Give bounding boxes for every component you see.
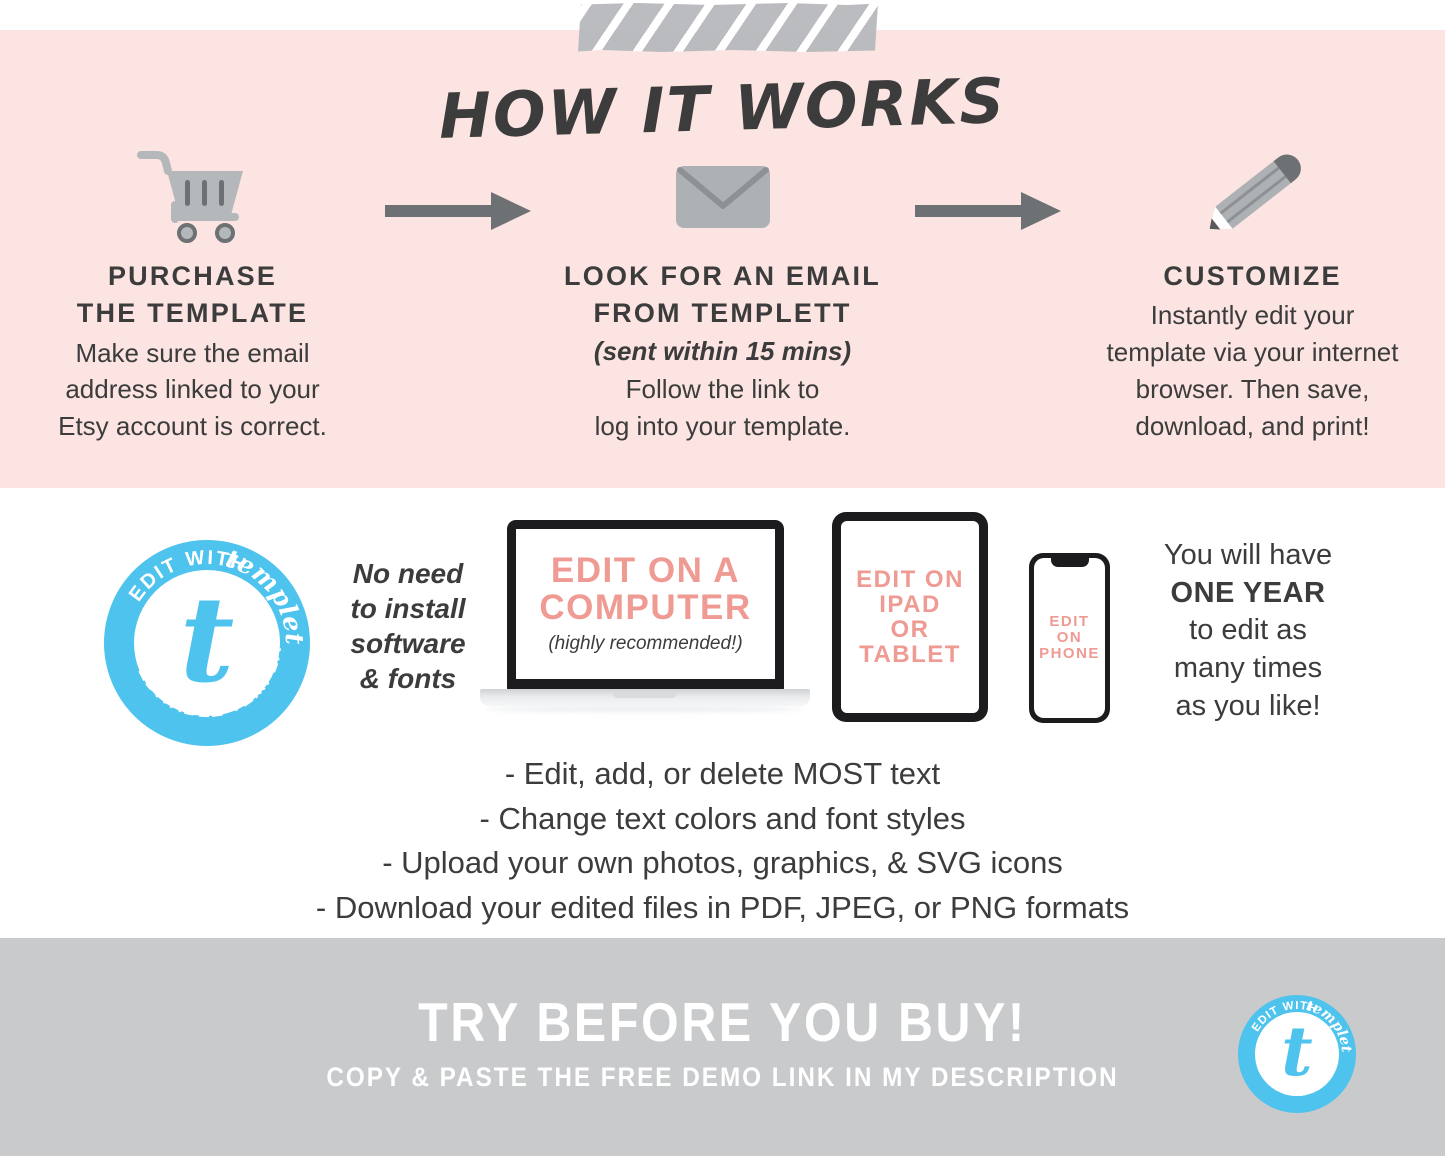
phone-screen: EDIT ON PHONE — [1034, 558, 1105, 718]
pencil-icon — [1063, 140, 1443, 250]
step-email-heading: LOOK FOR AN EMAIL FROM TEMPLETT — [533, 258, 913, 333]
laptop-screen: EDIT ON A COMPUTER (highly recommended!) — [516, 529, 775, 679]
arrow-right-icon-2 — [913, 140, 1063, 234]
phone-notch — [1051, 558, 1089, 567]
steps-row: PURCHASE THE TEMPLATE Make sure the emai… — [0, 140, 1445, 445]
laptop-trackpad-notch — [613, 692, 677, 698]
list-item: - Edit, add, or delete MOST text — [0, 752, 1445, 797]
step-customize-heading: CUSTOMIZE — [1063, 258, 1443, 295]
footer-title: TRY BEFORE YOU BUY! — [87, 990, 1359, 1054]
list-item: - Download your edited files in PDF, JPE… — [0, 886, 1445, 931]
phone-heading: EDIT ON PHONE — [1039, 614, 1100, 661]
badge-arc-text: EDIT WITH templett EDITABLE TEMPLATE — [1238, 995, 1356, 1113]
step-purchase: PURCHASE THE TEMPLATE Make sure the emai… — [3, 140, 383, 445]
no-need-text: No need to install software & fonts — [332, 556, 484, 696]
infographic-page: HOW IT WORKS PURCHASE THE TEMPL — [0, 0, 1445, 1156]
step-purchase-heading: PURCHASE THE TEMPLATE — [3, 258, 383, 333]
shopping-cart-icon — [3, 140, 383, 250]
washi-tape-icon — [578, 3, 878, 52]
step-email: LOOK FOR AN EMAIL FROM TEMPLETT (sent wi… — [533, 140, 913, 445]
laptop-shadow — [486, 706, 804, 712]
one-year-text: You will have ONE YEAR to edit as many t… — [1125, 537, 1371, 725]
tablet-heading: EDIT ON IPAD OR TABLET — [856, 567, 964, 668]
features-list: - Edit, add, or delete MOST text - Chang… — [0, 752, 1445, 931]
step-purchase-body: Make sure the email address linked to yo… — [3, 335, 383, 446]
step-email-note: (sent within 15 mins) — [533, 333, 913, 370]
templett-badge-icon-small: t EDIT WITH templett EDITABLE TEMPLATE — [1238, 995, 1356, 1113]
phone-mockup: EDIT ON PHONE — [1029, 553, 1110, 723]
footer-subtitle: COPY & PASTE THE FREE DEMO LINK IN MY DE… — [72, 1062, 1373, 1093]
step-customize: CUSTOMIZE Instantly edit your template v… — [1063, 140, 1443, 445]
laptop-heading: EDIT ON A COMPUTER — [539, 553, 751, 627]
laptop-lid: EDIT ON A COMPUTER (highly recommended!) — [507, 520, 784, 690]
step-email-body: Follow the link to log into your templat… — [533, 371, 913, 445]
arrow-right-icon-1 — [383, 140, 533, 234]
one-year-highlight: ONE YEAR — [1171, 577, 1326, 609]
badge-arc-text: EDIT WITH templett EDITABLE TEMPLATE — [104, 540, 310, 746]
tablet-screen: EDIT ON IPAD OR TABLET — [841, 521, 979, 713]
list-item: - Change text colors and font styles — [0, 797, 1445, 842]
tablet-mockup: EDIT ON IPAD OR TABLET — [832, 512, 988, 722]
list-item: - Upload your own photos, graphics, & SV… — [0, 841, 1445, 886]
step-customize-body: Instantly edit your template via your in… — [1063, 297, 1443, 445]
templett-badge-icon-large: t EDIT WITH templett EDITABLE TEMPLATE — [104, 540, 310, 746]
laptop-mockup: EDIT ON A COMPUTER (highly recommended!) — [480, 520, 810, 730]
laptop-subtitle: (highly recommended!) — [548, 633, 742, 655]
envelope-icon — [533, 140, 913, 250]
